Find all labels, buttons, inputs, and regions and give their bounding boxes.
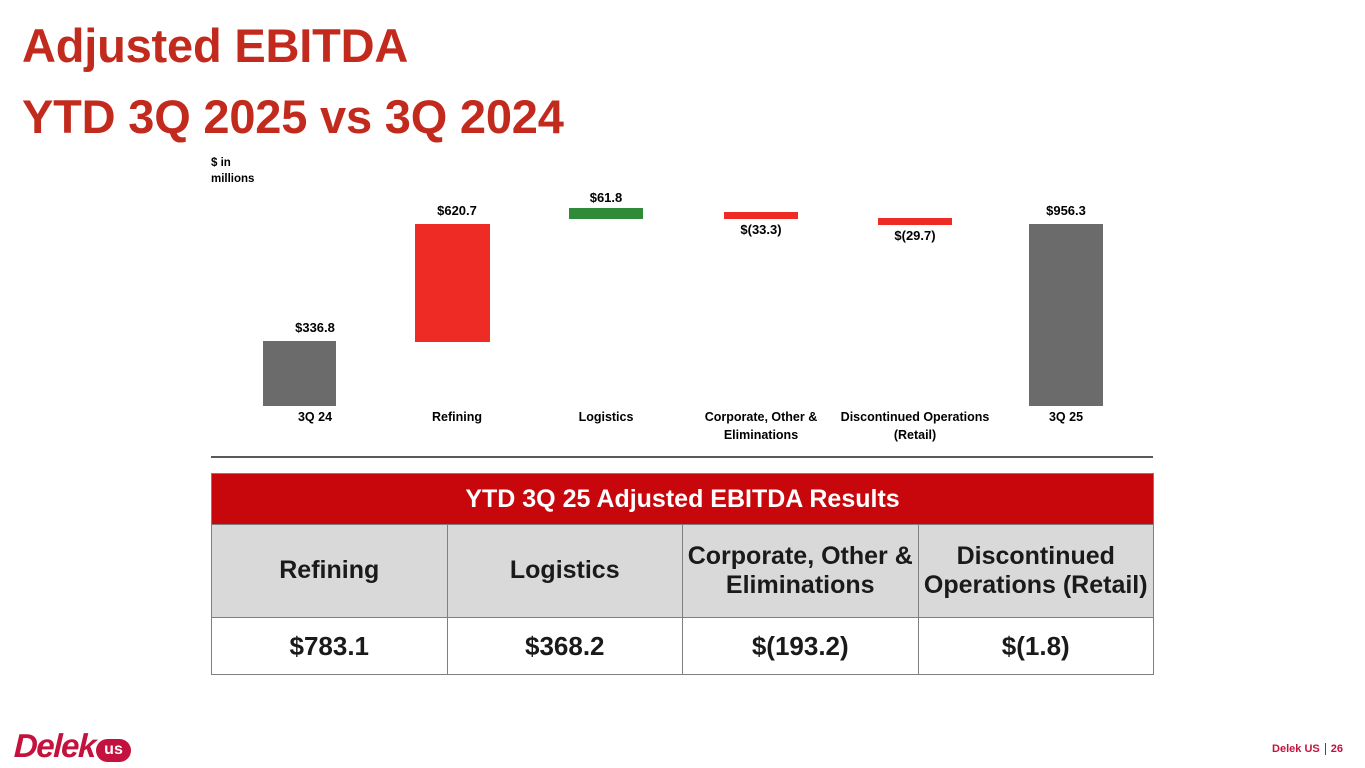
table-header-refining: Refining <box>212 525 448 618</box>
chart-value-label-discontinued-operations-retail: $(29.7) <box>830 228 1000 243</box>
chart-baseline-divider <box>211 456 1153 458</box>
page-title: Adjusted EBITDA YTD 3Q 2025 vs 3Q 2024 <box>22 10 922 153</box>
chart-bar-discontinued-operations-retail <box>878 218 952 225</box>
waterfall-chart: $ in millions $336.83Q 24$620.7Refining$… <box>211 150 1153 460</box>
table-title: YTD 3Q 25 Adjusted EBITDA Results <box>212 474 1154 525</box>
chart-column-logistics: $61.8Logistics <box>569 150 643 460</box>
chart-column-refining: $620.7Refining <box>415 150 490 460</box>
chart-category-label-discontinued-operations-retail: Discontinued Operations (Retail) <box>830 409 1000 445</box>
chart-column-corporate-other-eliminations: $(33.3)Corporate, Other & Eliminations <box>724 150 798 460</box>
chart-value-label-3q-24: $336.8 <box>230 320 400 335</box>
table-value-refining: $783.1 <box>212 618 448 675</box>
table-header-discontinued-operations-retail: Discontinued Operations (Retail) <box>918 525 1154 618</box>
table-value-logistics: $368.2 <box>447 618 683 675</box>
table-header-row: Refining Logistics Corporate, Other & El… <box>212 525 1154 618</box>
page-number: 26 <box>1331 743 1343 755</box>
chart-category-label-refining: Refining <box>372 409 542 427</box>
chart-value-label-3q-25: $956.3 <box>981 203 1151 218</box>
chart-category-label-logistics: Logistics <box>521 409 691 427</box>
chart-bar-corporate-other-eliminations <box>724 212 798 219</box>
table-header-corporate-other-eliminations: Corporate, Other & Eliminations <box>683 525 919 618</box>
chart-category-label-3q-25: 3Q 25 <box>981 409 1151 427</box>
chart-bar-refining <box>415 224 490 342</box>
chart-bar-3q-24 <box>263 341 336 406</box>
table-value-discontinued-operations-retail: $(1.8) <box>918 618 1154 675</box>
chart-category-label-corporate-other-eliminations: Corporate, Other & Eliminations <box>676 409 846 445</box>
chart-value-label-corporate-other-eliminations: $(33.3) <box>676 222 846 237</box>
logo-wordmark-text: Delek <box>13 727 95 765</box>
chart-column-discontinued-operations-retail: $(29.7)Discontinued Operations (Retail) <box>878 150 952 460</box>
page-marker-divider <box>1325 743 1326 755</box>
chart-column-3q-25: $956.33Q 25 <box>1029 150 1103 460</box>
table-row: $783.1 $368.2 $(193.2) $(1.8) <box>212 618 1154 675</box>
results-table: YTD 3Q 25 Adjusted EBITDA Results Refini… <box>211 473 1154 675</box>
chart-column-3q-24: $336.83Q 24 <box>263 150 336 460</box>
chart-bar-logistics <box>569 208 643 219</box>
logo-us-pill: us <box>96 739 131 762</box>
table-value-corporate-other-eliminations: $(193.2) <box>683 618 919 675</box>
page-marker: Delek US 26 <box>1272 743 1343 755</box>
table-title-row: YTD 3Q 25 Adjusted EBITDA Results <box>212 474 1154 525</box>
delek-us-logo: Delek us <box>14 729 131 763</box>
table-header-logistics: Logistics <box>447 525 683 618</box>
chart-bar-3q-25 <box>1029 224 1103 406</box>
page-marker-brand: Delek US <box>1272 743 1320 755</box>
chart-value-label-refining: $620.7 <box>372 203 542 218</box>
chart-value-label-logistics: $61.8 <box>521 190 691 205</box>
